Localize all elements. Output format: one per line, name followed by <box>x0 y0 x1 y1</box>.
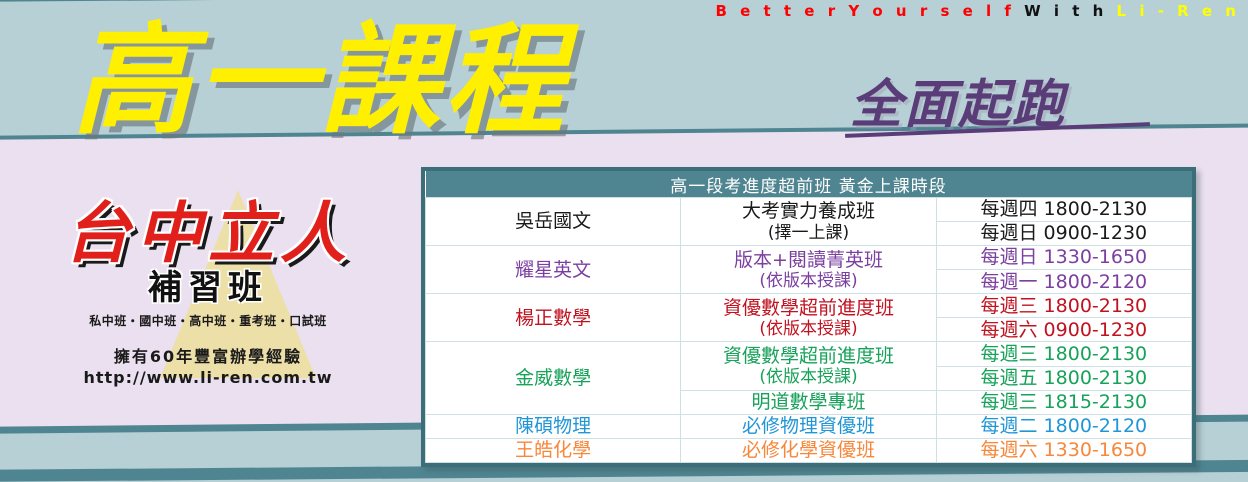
tagline-part-with: W i t h <box>1024 2 1116 20</box>
cell-time: 每週日 0900-1230 <box>936 222 1191 246</box>
course-note: (擇一上課) <box>685 223 931 243</box>
cell-course: 大考實力養成班 (擇一上課) <box>681 198 936 246</box>
cell-time: 每週三 1800-2130 <box>936 342 1191 366</box>
cell-time: 每週三 1815-2130 <box>936 390 1191 414</box>
cell-teacher: 楊正數學 <box>426 294 681 342</box>
logo-website-url[interactable]: http://www.li-ren.com.tw <box>28 368 388 387</box>
cell-time: 每週五 1800-2130 <box>936 366 1191 390</box>
cell-course: 資優數學超前進度班 (依版本授課) <box>681 342 936 390</box>
page-title: 高一課程 <box>72 14 568 148</box>
table-row[interactable]: 耀星英文 版本+閱讀菁英班 (依版本授課) 每週日 1330-1650 <box>426 246 1192 270</box>
course-name: 資優數學超前進度班 <box>723 297 894 319</box>
cell-teacher: 陳碩物理 <box>426 414 681 438</box>
course-note: (依版本授課) <box>685 367 931 387</box>
cell-course: 必修化學資優班 <box>681 438 936 462</box>
table-row[interactable]: 王皓化學 必修化學資優班 每週六 1330-1650 <box>426 438 1192 462</box>
table-header-title: 高一段考進度超前班 黃金上課時段 <box>426 171 1192 198</box>
course-note: (依版本授課) <box>685 319 931 339</box>
cell-time: 每週二 1800-2120 <box>936 414 1191 438</box>
cell-time: 每週一 1800-2120 <box>936 270 1191 294</box>
cell-time: 每週六 1330-1650 <box>936 438 1191 462</box>
table-row[interactable]: 楊正數學 資優數學超前進度班 (依版本授課) 每週三 1800-2130 <box>426 294 1192 318</box>
logo-name: 台中立人 <box>28 200 388 266</box>
course-name: 資優數學超前進度班 <box>723 345 894 367</box>
cell-time: 每週日 1330-1650 <box>936 246 1191 270</box>
course-note: (依版本授課) <box>685 271 931 291</box>
cell-teacher: 耀星英文 <box>426 246 681 294</box>
tagline-part-li-ren: L i - R e n <box>1117 2 1240 20</box>
cell-course: 資優數學超前進度班 (依版本授課) <box>681 294 936 342</box>
table-row[interactable]: 金威數學 資優數學超前進度班 (依版本授課) 每週三 1800-2130 <box>426 342 1192 366</box>
tagline-part-better-yourself: B e t t e r Y o u r s e l f <box>715 2 1024 20</box>
cell-teacher: 吳岳國文 <box>426 198 681 246</box>
cell-time: 每週四 1800-2130 <box>936 198 1191 222</box>
cell-time: 每週三 1800-2130 <box>936 294 1191 318</box>
cell-teacher: 王皓化學 <box>426 438 681 462</box>
table-row[interactable]: 陳碩物理 必修物理資優班 每週二 1800-2120 <box>426 414 1192 438</box>
brand-logo[interactable]: 台中立人 補習班 私中班・國中班・高中班・重考班・口試班 擁有60年豐富辦學經驗… <box>28 196 388 387</box>
logo-subtitle: 補習班 <box>28 270 388 307</box>
cell-time: 每週六 0900-1230 <box>936 318 1191 342</box>
course-name: 版本+閱讀菁英班 <box>734 249 883 271</box>
cell-course: 必修物理資優班 <box>681 414 936 438</box>
cell-teacher: 金威數學 <box>426 342 681 414</box>
logo-experience: 擁有60年豐富辦學經驗 <box>28 343 388 367</box>
table-header-row: 高一段考進度超前班 黃金上課時段 <box>426 171 1192 198</box>
cell-course: 明道數學專班 <box>681 390 936 414</box>
course-name: 大考實力養成班 <box>742 200 875 222</box>
logo-class-list: 私中班・國中班・高中班・重考班・口試班 <box>28 312 388 329</box>
table-row[interactable]: 吳岳國文 大考實力養成班 (擇一上課) 每週四 1800-2130 <box>426 198 1192 222</box>
schedule-table: 高一段考進度超前班 黃金上課時段 吳岳國文 大考實力養成班 (擇一上課) 每週四… <box>425 171 1192 463</box>
schedule-table-container: 高一段考進度超前班 黃金上課時段 吳岳國文 大考實力養成班 (擇一上課) 每週四… <box>421 167 1196 467</box>
cell-course: 版本+閱讀菁英班 (依版本授課) <box>681 246 936 294</box>
